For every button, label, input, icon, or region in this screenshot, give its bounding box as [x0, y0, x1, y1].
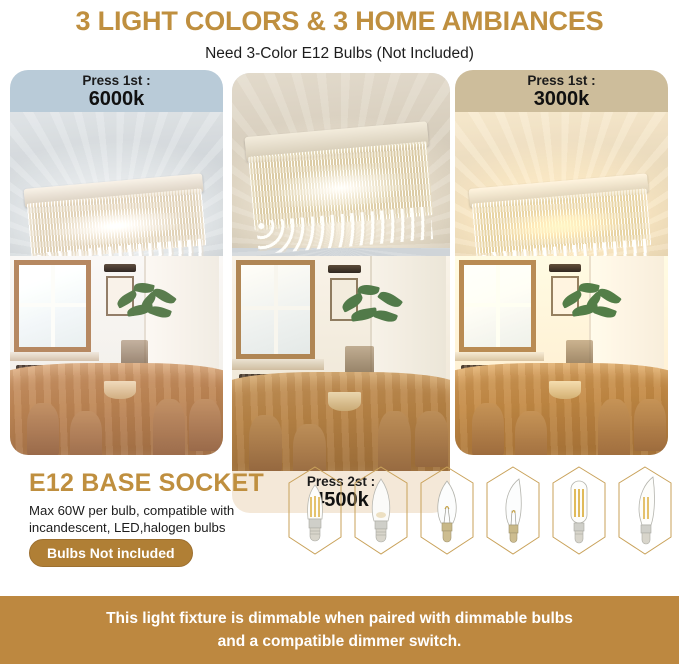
panel-6000k-temperature: 6000k [89, 88, 145, 110]
panel-6000k-press-label: Press 1st : [82, 73, 150, 88]
window [14, 260, 91, 352]
e12-base-socket-section: E12 BASE SOCKET Max 60W per bulb, compat… [0, 461, 679, 586]
tubular-filament-bulb [547, 463, 611, 558]
panel-3000k: Press 1st : 3000k [455, 70, 668, 455]
bulb-type-gallery [283, 463, 677, 558]
panel-4500k: Press 2st : 4500k [232, 73, 450, 513]
panel-4500k-photo [232, 73, 450, 471]
panel-6000k-caption: Press 1st : 6000k [10, 70, 223, 112]
candle-filament-bulb [283, 463, 347, 558]
panel-3000k-caption: Press 1st : 3000k [455, 70, 668, 112]
clear-incandescent-candle-bulb [415, 463, 479, 558]
panel-6000k: Press 1st : 6000k [10, 70, 223, 455]
window [236, 260, 314, 359]
torpedo-frosted-bulb [349, 463, 413, 558]
panel-3000k-temperature: 3000k [534, 88, 590, 110]
window [459, 260, 536, 352]
page-subtitle: Need 3-Color E12 Bulbs (Not Included) [0, 45, 679, 63]
bent-tip-filament-bulb [613, 463, 677, 558]
flame-tip-incandescent-bulb [481, 463, 545, 558]
e12-title: E12 BASE SOCKET [29, 469, 264, 498]
ceiling-light-fixture [245, 121, 437, 248]
dimmable-banner: This light fixture is dimmable when pair… [0, 596, 679, 664]
dimmable-banner-line2: and a compatible dimmer switch. [218, 633, 462, 650]
panel-6000k-photo [10, 112, 223, 455]
panel-3000k-press-label: Press 1st : [527, 73, 595, 88]
bulbs-not-included-badge: Bulbs Not included [29, 539, 193, 567]
dimmable-banner-line1: This light fixture is dimmable when pair… [106, 610, 573, 627]
page-title: 3 LIGHT COLORS & 3 HOME AMBIANCES [0, 6, 679, 36]
panel-3000k-photo [455, 112, 668, 455]
color-temperature-panels: Press 1st : 6000k [0, 70, 679, 455]
e12-description: Max 60W per bulb, compatible with incand… [29, 502, 279, 536]
dimmable-banner-text: This light fixture is dimmable when pair… [66, 607, 613, 653]
